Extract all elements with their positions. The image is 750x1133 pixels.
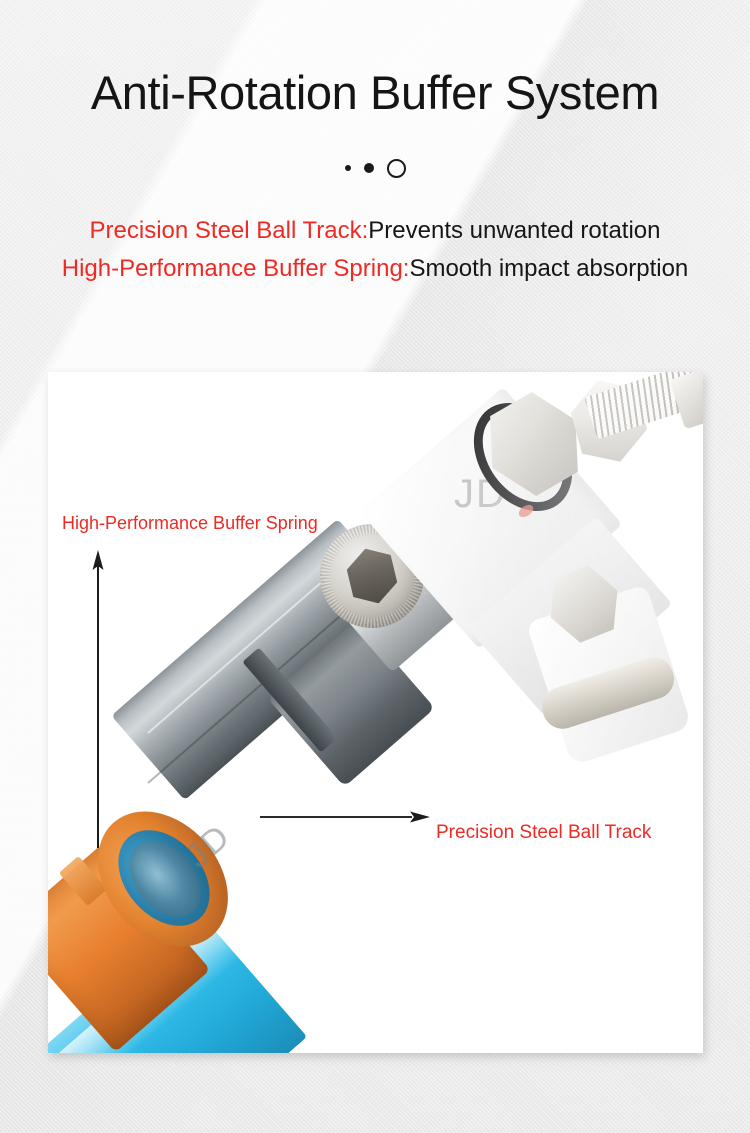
feature-list: Precision Steel Ball Track:Prevents unwa… [0,212,750,288]
infographic-page: Anti-Rotation Buffer System Precision St… [0,0,750,1133]
feature-line: High-Performance Buffer Spring:Smooth im… [0,250,750,288]
product-photo-panel: JD JD High-Performan [48,372,703,1053]
annotation-label-steel-ball-track: Precision Steel Ball Track [436,822,651,844]
feature-description: Smooth impact absorption [409,255,688,282]
product-photo: JD JD [48,372,703,1053]
feature-label: Precision Steel Ball Track: [90,217,369,244]
annotation-label-buffer-spring: High-Performance Buffer Spring [62,512,318,534]
feature-description: Prevents unwanted rotation [368,217,660,244]
annotation-arrow-right-icon [260,806,432,828]
feature-label: High-Performance Buffer Spring: [62,255,410,282]
feature-line: Precision Steel Ball Track:Prevents unwa… [0,212,750,250]
annotation-arrow-up-icon [86,548,110,848]
divider-ornament [0,153,750,183]
page-title: Anti-Rotation Buffer System [0,64,750,122]
large-hollow-circle-icon [387,159,406,178]
medium-filled-dot-icon [364,163,374,173]
small-filled-dot-icon [345,165,351,171]
